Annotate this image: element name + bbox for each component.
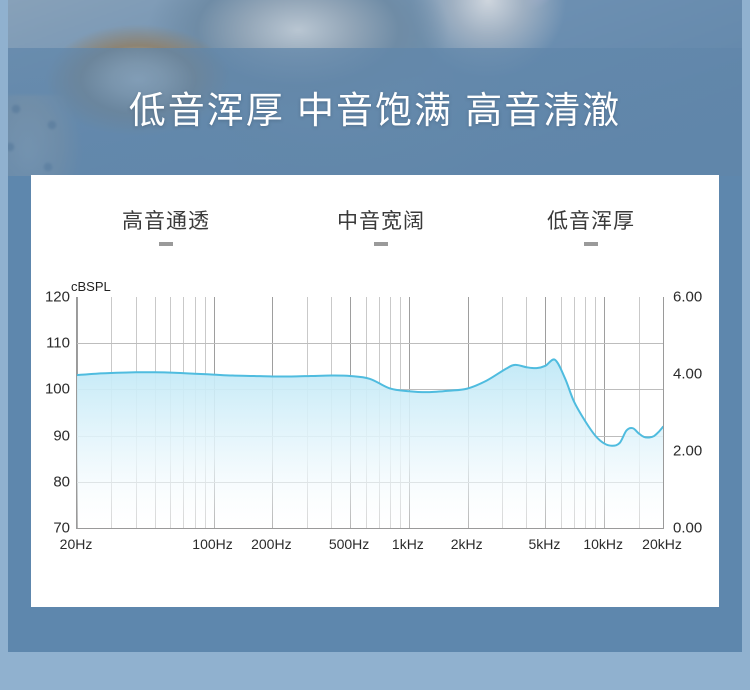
content-card: 高音通透 中音宽阔 低音浑厚 cBSPL 7080901001101200.00… bbox=[31, 175, 719, 607]
caption-dash-icon bbox=[584, 242, 598, 246]
x-axis-tick-label: 10kHz bbox=[583, 536, 623, 552]
frequency-response-chart: cBSPL 7080901001101200.002.004.006.0020H… bbox=[31, 279, 719, 569]
plot-area bbox=[76, 297, 664, 529]
y-axis-tick-label: 120 bbox=[45, 289, 70, 306]
feature-caption-row: 高音通透 中音宽阔 低音浑厚 bbox=[31, 205, 719, 255]
plot-wrapper: 7080901001101200.002.004.006.0020Hz100Hz… bbox=[76, 297, 664, 529]
y-axis-tick-label: 110 bbox=[46, 335, 70, 352]
hero-banner: 低音浑厚 中音饱满 高音清澈 bbox=[8, 0, 742, 176]
y-axis-tick-label: 70 bbox=[53, 520, 70, 537]
caption-dash-icon bbox=[374, 242, 388, 246]
y2-axis-tick-label: 2.00 bbox=[673, 443, 702, 460]
feature-caption-treble: 高音通透 bbox=[71, 205, 261, 246]
x-axis-tick-label: 5kHz bbox=[528, 536, 560, 552]
x-axis-tick-label: 200Hz bbox=[251, 536, 291, 552]
y-axis-tick-label: 100 bbox=[45, 381, 70, 398]
curve-fill bbox=[77, 359, 663, 528]
hero-title: 低音浑厚 中音饱满 高音清澈 bbox=[8, 80, 742, 134]
y-axis-unit-label: cBSPL bbox=[71, 279, 111, 294]
x-axis-tick-label: 100Hz bbox=[192, 536, 232, 552]
x-axis-tick-label: 1kHz bbox=[392, 536, 424, 552]
y2-axis-tick-label: 4.00 bbox=[673, 366, 702, 383]
x-axis-tick-label: 500Hz bbox=[329, 536, 369, 552]
y2-axis-tick-label: 6.00 bbox=[673, 289, 702, 306]
y-axis-tick-label: 80 bbox=[53, 473, 70, 490]
feature-caption-mid-label: 中音宽阔 bbox=[337, 210, 425, 233]
caption-dash-icon bbox=[159, 242, 173, 246]
x-axis-tick-label: 2kHz bbox=[451, 536, 483, 552]
y-axis-tick-label: 90 bbox=[53, 427, 70, 444]
feature-caption-bass-label: 低音浑厚 bbox=[547, 210, 635, 233]
y2-axis-tick-label: 0.00 bbox=[673, 520, 702, 537]
feature-caption-treble-label: 高音通透 bbox=[122, 210, 210, 233]
feature-caption-mid: 中音宽阔 bbox=[286, 205, 476, 246]
x-axis-tick-label: 20kHz bbox=[642, 536, 682, 552]
x-axis-tick-label: 20Hz bbox=[60, 536, 93, 552]
page-root: 低音浑厚 中音饱满 高音清澈 高音通透 中音宽阔 低音浑厚 cBSPL 7080… bbox=[0, 0, 750, 690]
feature-caption-bass: 低音浑厚 bbox=[496, 205, 686, 246]
